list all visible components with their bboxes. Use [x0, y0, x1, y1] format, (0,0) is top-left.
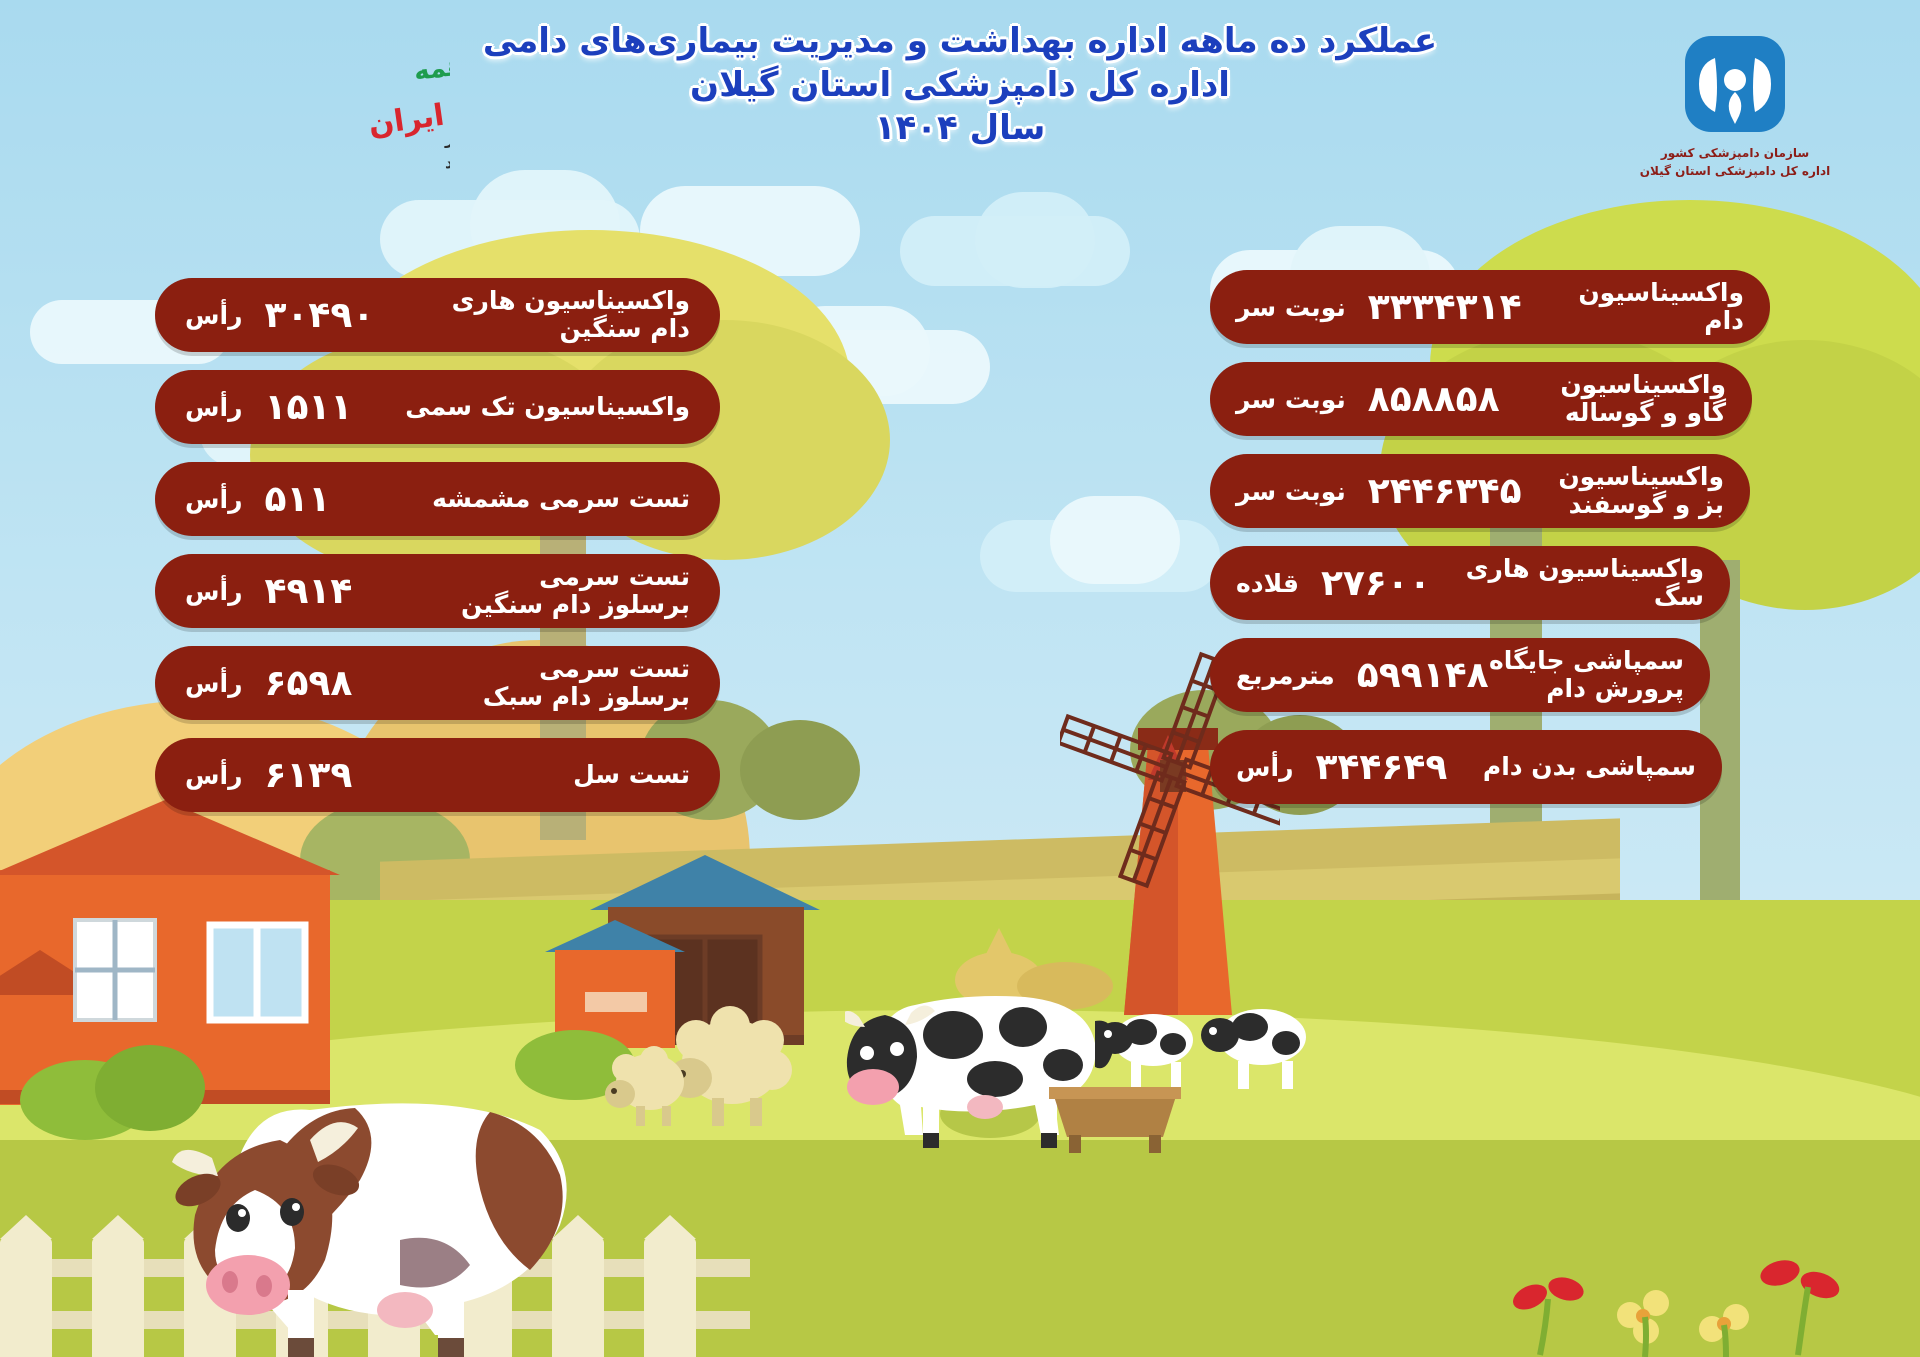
title-line-1: عملکرد ده ماهه اداره بهداشت و مدیریت بیم…: [470, 20, 1450, 64]
stat-pill-vaccination-sheep-goat[interactable]: واکسیناسیون بز و گوسفند ۲۴۴۶۳۴۵ نوبت سر: [1210, 454, 1750, 528]
stat-unit: رأس: [1236, 753, 1293, 782]
stat-value: ۶۵۹۸: [264, 663, 352, 704]
stat-unit: رأس: [185, 301, 242, 330]
stats-left-column: واکسیناسیون هاری دام سنگین ۳۰۴۹۰ رأس واک…: [155, 278, 720, 812]
stat-pill-tuberculosis-test[interactable]: تست سل ۶۱۳۹ رأس: [155, 738, 720, 812]
stat-pill-rabies-vaccination-large-livestock[interactable]: واکسیناسیون هاری دام سنگین ۳۰۴۹۰ رأس: [155, 278, 720, 352]
stat-value: ۳۰۴۹۰: [264, 295, 374, 336]
stat-pill-spraying-animal-body[interactable]: سمپاشی بدن دام ۳۴۴۶۴۹ رأس: [1210, 730, 1722, 804]
stat-unit: قلاده: [1236, 569, 1299, 598]
stat-label: تست سل: [573, 761, 690, 789]
stat-unit: نوبت سر: [1236, 477, 1346, 506]
ivo-logo-mark: [1671, 30, 1799, 140]
stat-value: ۵۱۱: [264, 479, 330, 520]
stat-pill-vaccination-livestock[interactable]: واکسیناسیون دام ۳۳۳۴۳۱۴ نوبت سر: [1210, 270, 1770, 344]
tree-canopy: [740, 720, 860, 820]
stat-pill-vaccination-cattle[interactable]: واکسیناسیون گاو و گوساله ۸۵۸۸۵۸ نوبت سر: [1210, 362, 1752, 436]
stat-label: واکسیناسیون دام: [1578, 279, 1744, 335]
stat-label: واکسیناسیون هاری دام سنگین: [452, 287, 690, 343]
logo-line-greeting: گرامی باد: [445, 153, 450, 172]
stat-pill-spraying-housing[interactable]: سمپاشی جایگاه پرورش دام ۵۹۹۱۴۸ مترمربع: [1210, 638, 1710, 712]
stat-value: ۲۴۴۶۳۴۵: [1368, 471, 1522, 512]
stat-label: تست سرمی برسلوز دام سبک: [483, 655, 690, 711]
logo-line-fajr: دهه فجر: [444, 129, 450, 148]
page-title: عملکرد ده ماهه اداره بهداشت و مدیریت بیم…: [470, 20, 1450, 151]
stat-label: واکسیناسیون بز و گوسفند: [1558, 463, 1724, 519]
stat-unit: نوبت سر: [1236, 293, 1346, 322]
stat-pill-serology-brucellosis-large[interactable]: تست سرمی برسلوز دام سنگین ۴۹۱۴ رأس: [155, 554, 720, 628]
infographic-canvas: عدالت برای همه آینده برای ایران دهه فجر …: [0, 0, 1920, 1357]
stat-label: سمپاشی جایگاه پرورش دام: [1489, 647, 1684, 703]
stat-value: ۵۹۹۱۴۸: [1357, 655, 1489, 696]
stat-label: واکسیناسیون گاو و گوساله: [1560, 371, 1726, 427]
stat-label: تست سرمی برسلوز دام سنگین: [461, 563, 690, 619]
stat-value: ۱۵۱۱: [264, 387, 352, 428]
calf-illustration: [1200, 995, 1320, 1090]
stat-value: ۳۴۴۶۴۹: [1315, 747, 1447, 788]
stat-unit: مترمربع: [1236, 661, 1335, 690]
logo-line-justice: عدالت برای همه: [412, 40, 450, 87]
stats-right-column: واکسیناسیون دام ۳۳۳۴۳۱۴ نوبت سر واکسیناس…: [1210, 270, 1770, 804]
title-line-2: اداره کل دامپزشکی استان گیلان: [470, 64, 1450, 108]
stat-unit: نوبت سر: [1236, 385, 1346, 414]
stat-unit: رأس: [185, 577, 242, 606]
calf-illustration: [1095, 1000, 1205, 1090]
stat-unit: رأس: [185, 669, 242, 698]
cow-foreground-illustration: [160, 990, 620, 1357]
flowers-illustration: [1480, 1245, 1900, 1357]
title-line-3: سال ۱۴۰۴: [470, 107, 1450, 151]
stat-value: ۸۵۸۸۵۸: [1368, 379, 1500, 420]
stat-pill-serology-glanders[interactable]: تست سرمی مشمشه ۵۱۱ رأس: [155, 462, 720, 536]
ivo-org-name: سازمان دامپزشکی کشور اداره کل دامپزشکی ا…: [1640, 144, 1831, 180]
ivo-org-line2: اداره کل دامپزشکی استان گیلان: [1640, 162, 1831, 180]
trough-illustration: [1045, 1085, 1185, 1155]
stat-unit: رأس: [185, 485, 242, 514]
stat-label: سمپاشی بدن دام: [1483, 753, 1696, 781]
stat-label: تست سرمی مشمشه: [432, 485, 690, 513]
stat-unit: رأس: [185, 393, 242, 422]
dahe-fajr-logo: عدالت برای همه آینده برای ایران دهه فجر …: [70, 40, 450, 180]
stat-value: ۳۳۳۴۳۱۴: [1368, 287, 1522, 328]
stat-pill-rabies-vaccination-dogs[interactable]: واکسیناسیون هاری سگ ۲۷۶۰۰ قلاده: [1210, 546, 1730, 620]
stat-pill-serology-brucellosis-small[interactable]: تست سرمی برسلوز دام سبک ۶۵۹۸ رأس: [155, 646, 720, 720]
ivo-logo: سازمان دامپزشکی کشور اداره کل دامپزشکی ا…: [1605, 30, 1865, 200]
cloud-icon: [975, 192, 1095, 288]
stat-label: واکسیناسیون تک سمی: [405, 393, 690, 421]
stat-value: ۶۱۳۹: [264, 755, 352, 796]
stat-pill-vaccination-equine[interactable]: واکسیناسیون تک سمی ۱۵۱۱ رأس: [155, 370, 720, 444]
stat-unit: رأس: [185, 761, 242, 790]
cloud-icon: [1050, 496, 1180, 584]
ivo-org-line1: سازمان دامپزشکی کشور: [1640, 144, 1831, 162]
stat-label: واکسیناسیون هاری سگ: [1431, 555, 1704, 611]
stat-value: ۴۹۱۴: [264, 571, 352, 612]
stat-value: ۲۷۶۰۰: [1321, 563, 1431, 604]
